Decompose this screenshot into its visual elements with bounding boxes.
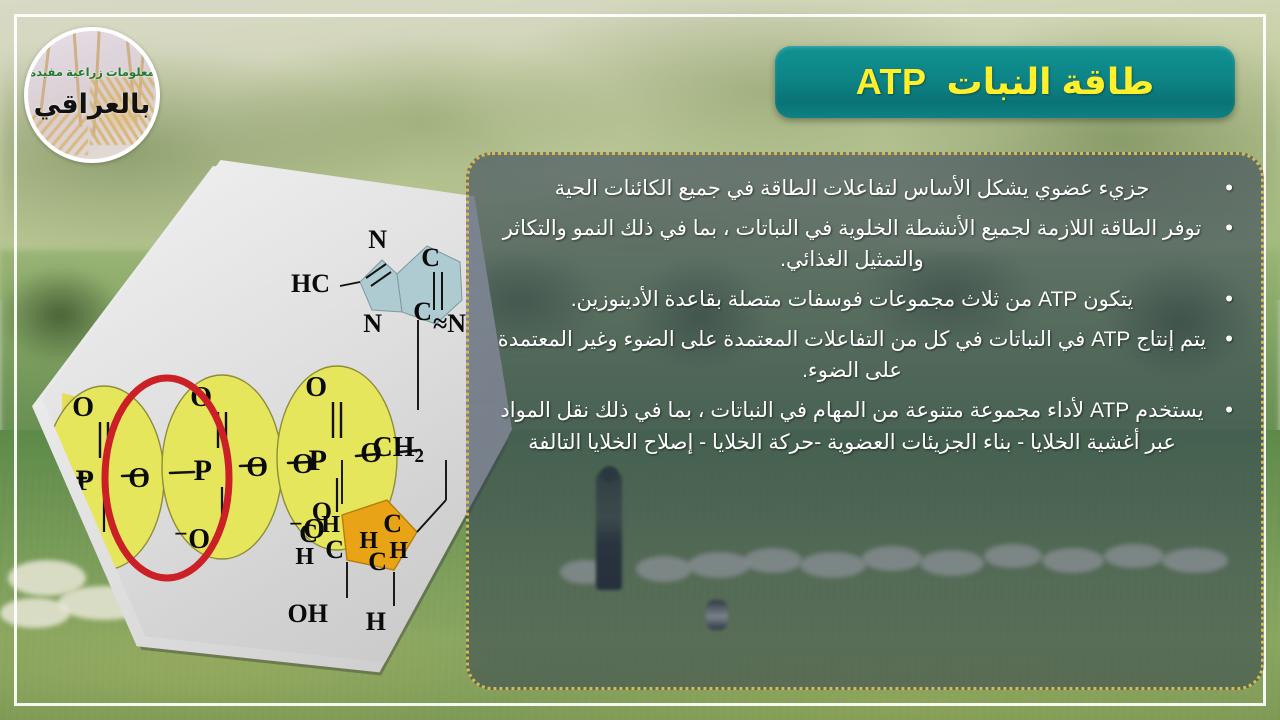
atom-label-o-minus-1: O⁻ [55, 534, 92, 565]
atom-label-ribose-c3: C [325, 535, 344, 564]
atom-label-ribose-c2: C [383, 509, 402, 538]
atom-label-adenine-n1: N [368, 225, 387, 254]
atom-label-p3: P [309, 444, 327, 477]
atom-label-ribose-oh: OH [288, 599, 328, 628]
atom-label-p2: P [194, 454, 212, 487]
atom-label-ribose-h5: H [366, 607, 386, 636]
page-title: طاقة النبات ATP [856, 61, 1155, 103]
atom-label-ribose-h3: H [295, 544, 314, 570]
atp-structure-svg: ⁻O P O O⁻ O P O O⁻ O O P O O⁻ O CH2 O · … [42, 160, 512, 678]
content-panel: جزيء عضوي يشكل الأساس لتفاعلات الطاقة في… [466, 152, 1264, 690]
bullet-list: جزيء عضوي يشكل الأساس لتفاعلات الطاقة في… [495, 173, 1235, 458]
list-item: جزيء عضوي يشكل الأساس لتفاعلات الطاقة في… [495, 173, 1235, 204]
atom-label-ribose-h2: H [359, 528, 378, 554]
slide-root: معلومات زراعية مفيدة بالعراقي طاقة النبا… [0, 0, 1280, 720]
title-latin: ATP [856, 61, 927, 103]
atom-label-adenine-c1: C [421, 243, 440, 272]
atom-label-ribose-h1: H [321, 512, 340, 538]
list-item: يتكون ATP من ثلاث مجموعات فوسفات متصلة ب… [495, 284, 1235, 315]
hexagon-front-face: ⁻O P O O⁻ O P O O⁻ O O P O O⁻ O CH2 O · … [42, 160, 512, 678]
logo-tagline: معلومات زراعية مفيدة [28, 65, 156, 79]
atom-label-adenine-hc: HC [291, 269, 330, 298]
atom-label-bridge-o-2: O [246, 452, 268, 483]
list-item: يستخدم ATP لأداء مجموعة متنوعة من المهام… [495, 395, 1235, 457]
atom-label-adenine-n3: N≈ [433, 309, 466, 338]
atom-label-ch2: CH2 [373, 432, 425, 467]
atom-label-adenine-n2: N [363, 309, 382, 338]
list-item: يتم إنتاج ATP في النباتات في كل من التفا… [495, 324, 1235, 386]
atom-label-bridge-o-1: O [128, 463, 150, 494]
title-arabic: طاقة النبات [947, 61, 1155, 102]
atom-label-left-o: ⁻O [42, 464, 50, 495]
atom-label-ribose-h4: H [389, 538, 408, 564]
atom-label-o-double-1: O [72, 392, 94, 423]
slide-title-bar: طاقة النبات ATP [775, 46, 1235, 118]
atom-label-o-double-3: O [305, 372, 327, 403]
channel-logo[interactable]: معلومات زراعية مفيدة بالعراقي [24, 27, 160, 163]
atom-label-adenine-c2: C [413, 297, 432, 326]
atp-diagram-card: ⁻O P O O⁻ O P O O⁻ O O P O O⁻ O CH2 O · … [28, 160, 538, 705]
list-item: توفر الطاقة اللازمة لجميع الأنشطة الخلوي… [495, 213, 1235, 275]
logo-name: بالعراقي [28, 89, 156, 120]
atom-label-o-minus-2: O⁻ [173, 524, 210, 555]
